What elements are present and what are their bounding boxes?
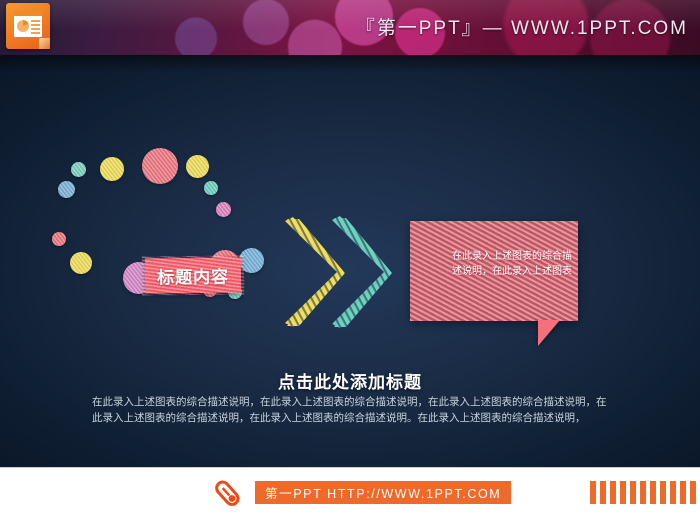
logo-sheet	[6, 3, 50, 49]
decorative-dot	[186, 155, 209, 178]
pie-chart-icon	[17, 20, 29, 32]
header-banner: 『第一PPT』— WWW.1PPT.COM	[0, 0, 700, 55]
slide-body: 标题内容	[0, 55, 700, 467]
chevron-teal-icon	[330, 216, 392, 330]
title-badge[interactable]: 标题内容	[145, 257, 241, 293]
pen-icon	[210, 476, 246, 512]
header-title: 『第一PPT』— WWW.1PPT.COM	[356, 13, 688, 40]
slide-top-shadow	[0, 55, 700, 73]
speech-bubble-tail	[538, 320, 560, 346]
page-title: 点击此处添加标题	[0, 368, 700, 393]
powerpoint-document-icon	[6, 3, 52, 51]
decorative-dot	[100, 157, 124, 181]
footer-url-text: 第一PPT HTTP://WWW.1PPT.COM	[265, 483, 501, 502]
footer-bar-pattern	[590, 481, 700, 504]
footer-bar: 第一PPT HTTP://WWW.1PPT.COM	[0, 467, 700, 525]
footer-url-band[interactable]: 第一PPT HTTP://WWW.1PPT.COM	[255, 481, 511, 504]
logo-text-lines	[31, 20, 40, 36]
footer-divider	[0, 467, 700, 468]
title-badge-label: 标题内容	[145, 257, 241, 293]
slide-stage: 『第一PPT』— WWW.1PPT.COM 标题内容	[0, 0, 700, 525]
decorative-dot	[142, 148, 178, 184]
speech-bubble[interactable]: 在此录入上述图表的综合描述说明，在此录入上述图表	[410, 221, 578, 321]
decorative-dot	[216, 202, 231, 217]
decorative-dot	[70, 252, 92, 274]
speech-bubble-text: 在此录入上述图表的综合描述说明，在此录入上述图表	[452, 249, 572, 279]
logo-inner-page	[14, 11, 42, 37]
logo-corner-fold	[39, 38, 50, 49]
decorative-dot	[71, 162, 86, 177]
decorative-dot	[52, 232, 66, 246]
decorative-dot	[58, 181, 75, 198]
body-paragraph: 在此录入上述图表的综合描述说明，在此录入上述图表的综合描述说明，在此录入上述图表…	[92, 394, 608, 426]
decorative-dot	[204, 181, 218, 195]
